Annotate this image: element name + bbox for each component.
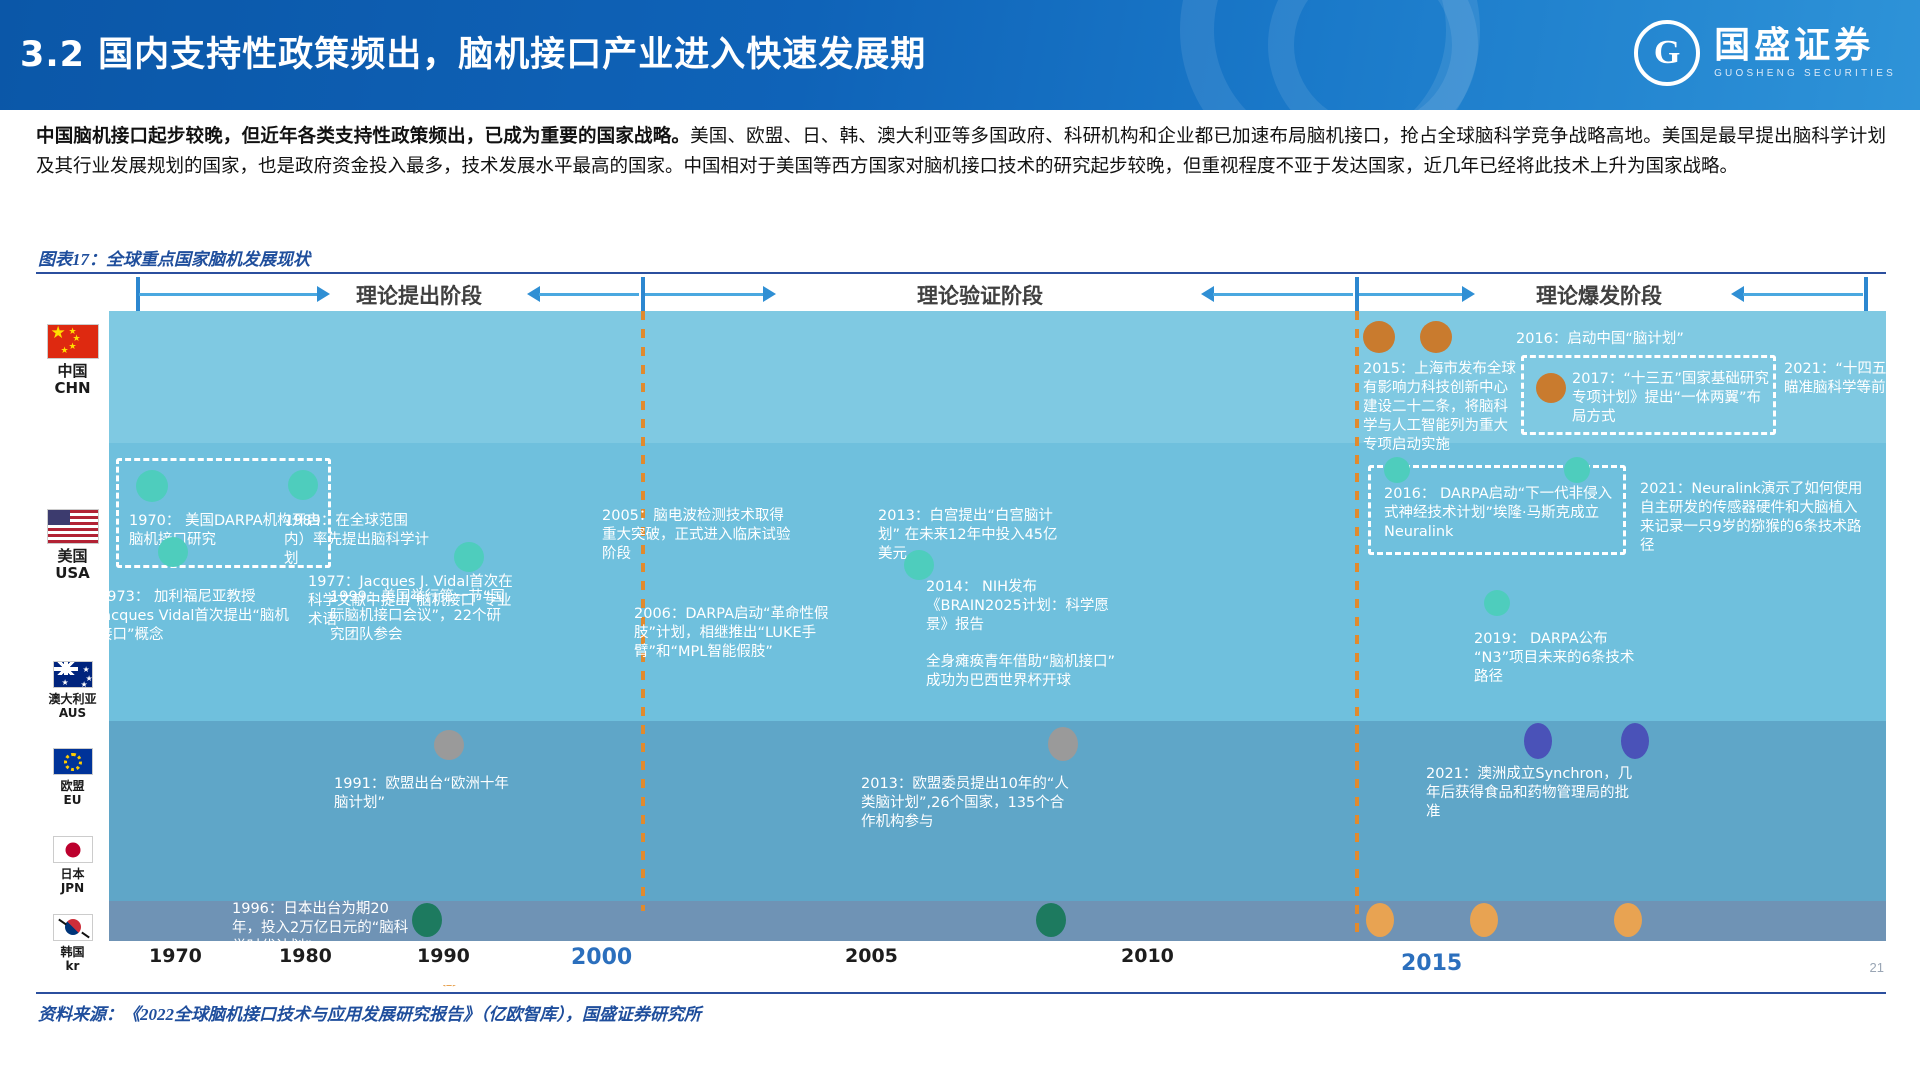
country-label-usa-cn: 美国 xyxy=(57,548,87,565)
event-chn-2017: 2017：“十三五”国家基础研究专项计划》提出“一体两翼”布局方式 xyxy=(1572,370,1770,427)
event-dot xyxy=(1484,590,1510,616)
flag-kr-icon xyxy=(53,914,93,941)
figure-source: 资料来源：《2022全球脑机接口技术与应用发展研究报告》（亿欧智库），国盛证券研… xyxy=(38,1000,701,1025)
brand-name-cn: 国盛证券 xyxy=(1714,27,1896,65)
country-label-usa-code: USA xyxy=(55,565,90,582)
axis-tick-1970: 1970 xyxy=(149,945,202,967)
phase-2-arrow-line-left xyxy=(645,293,765,296)
event-dot xyxy=(1366,903,1394,937)
phase-1-arrow-line-right xyxy=(539,293,639,296)
country-row-kr: 韩国 kr xyxy=(36,907,109,979)
axis-tick-2005: 2005 xyxy=(845,945,898,967)
axis-tick-2000: 2000 xyxy=(571,945,632,970)
event-usa-2021: 2021：Neuralink演示了如何使用自主研发的传感器硬件和大脑植入来记录一… xyxy=(1640,480,1870,556)
event-usa-2005: 2005：脑电波检测技术取得重大突破，正式进入临床试验阶段 xyxy=(602,507,797,564)
page-number: 21 xyxy=(1870,960,1884,975)
phase-2-arrow-line-right xyxy=(1213,293,1353,296)
figure-top-rule xyxy=(36,272,1886,274)
phase-label-3: 理论爆发阶段 xyxy=(1469,280,1729,310)
event-dot xyxy=(1420,321,1452,353)
phase-1-arrow-line-left xyxy=(139,293,319,296)
event-dot xyxy=(1363,321,1395,353)
phase-label-1: 理论提出阶段 xyxy=(319,280,519,310)
country-label-eu-cn: 欧盟 xyxy=(60,779,84,793)
event-usa-1989: 1989：在全球范围内）率先提出脑科学计划 xyxy=(284,512,429,569)
country-label-eu-code: EU xyxy=(64,793,82,807)
flag-us-icon xyxy=(47,509,99,544)
event-dot xyxy=(136,470,168,502)
event-dot xyxy=(1614,903,1642,937)
event-dot xyxy=(1384,457,1410,483)
figure-bottom-rule xyxy=(36,992,1886,994)
event-chn-2016: 2016：启动中国“脑计划” xyxy=(1516,330,1816,349)
country-row-jpn: 日本 JPN xyxy=(36,823,109,908)
axis-tick-1990: 1990 xyxy=(417,945,470,967)
flag-jp-icon xyxy=(53,836,93,863)
event-chn-2015: 2015：上海市发布全球有影响力科技创新中心建设二十二条，将脑科学与人工智能列为… xyxy=(1363,360,1518,455)
event-usa-1973: 1973： 加利福尼亚教授Jacques Vidal首次提出“脑机接口”概念 xyxy=(98,588,293,645)
page-title: 3.2 国内支持性政策频出，脑机接口产业进入快速发展期 xyxy=(20,26,926,77)
event-dot xyxy=(1036,903,1066,937)
timeline-chart: ★★ ★★ ★ 中国 CHN 美国 USA ★ ★ ★ ★ 澳大利亚 AUS xyxy=(36,275,1886,985)
phase-header: 理论提出阶段 理论验证阶段 理论爆发阶段 xyxy=(109,275,1886,311)
country-row-chn: ★★ ★★ ★ 中国 CHN xyxy=(36,285,109,435)
phase-3-arrow-line-left xyxy=(1359,293,1464,296)
country-row-eu: 欧盟 EU xyxy=(36,735,109,820)
event-usa-1999: 1999：美国举行第一节“国际脑机接口会议”，22个研究团队参会 xyxy=(330,588,515,645)
country-label-jpn-cn: 日本 xyxy=(60,867,84,881)
country-row-aus: ★ ★ ★ ★ 澳大利亚 AUS xyxy=(36,645,109,735)
event-dot xyxy=(454,542,484,572)
event-dot xyxy=(288,470,318,500)
event-usa-2013: 2013：白宫提出“白宫脑计划” 在未来12年中投入45亿美元 xyxy=(878,507,1058,564)
country-label-chn-code: CHN xyxy=(54,380,90,397)
flag-eu-icon xyxy=(53,748,93,775)
flag-cn-icon: ★★ ★★ ★ xyxy=(47,324,99,359)
event-aus-2021: 2021：澳洲成立Synchron，几年后获得食品和药物管理局的批准 xyxy=(1426,765,1636,822)
event-dot xyxy=(904,550,934,580)
event-usa-2016: 2016： DARPA启动“下一代非侵入式神经技术计划”埃隆·马斯克成立Neur… xyxy=(1384,485,1614,542)
event-dot xyxy=(1524,723,1552,759)
year-marker-2015 xyxy=(1355,311,1359,941)
intro-paragraph: 中国脑机接口起步较晚，但近年各类支持性政策频出，已成为重要的国家战略。美国、欧盟… xyxy=(36,122,1886,182)
guosheng-logo-icon: G xyxy=(1634,20,1700,86)
event-dot xyxy=(1564,457,1590,483)
time-axis: 1970 1980 1990 2000 2005 2010 2015 xyxy=(109,941,1886,985)
phase-label-2: 理论验证阶段 xyxy=(765,280,1195,310)
phase-3-arrow-line-right xyxy=(1743,293,1863,296)
event-eu-1991: 1991：欧盟出台“欧洲十年脑计划” xyxy=(334,775,519,813)
brand-name-en: GUOSHENG SECURITIES xyxy=(1714,68,1896,79)
watermark-ring-inner xyxy=(1268,0,1478,110)
event-usa-2014b: 全身瘫痪青年借助“脑机接口”成功为巴西世界杯开球 xyxy=(926,653,1126,691)
intro-lead: 中国脑机接口起步较晚，但近年各类支持性政策频出，已成为重要的国家战略。 xyxy=(36,127,690,147)
event-dot xyxy=(434,730,464,760)
event-dot xyxy=(1470,903,1498,937)
event-dot xyxy=(158,537,188,567)
brand-logo: G 国盛证券 GUOSHENG SECURITIES xyxy=(1634,20,1896,86)
country-label-kr-code: kr xyxy=(66,959,80,973)
event-dot xyxy=(1536,373,1566,403)
country-label-chn-cn: 中国 xyxy=(57,363,87,380)
axis-tick-2010: 2010 xyxy=(1121,945,1174,967)
event-usa-2006: 2006：DARPA启动“革命性假肢”计划，相继推出“LUKE手臂”和“MPL智… xyxy=(634,605,829,662)
axis-tick-2015: 2015 xyxy=(1401,951,1462,976)
event-usa-2014: 2014： NIH发布《BRAIN2025计划：科学愿景》报告 xyxy=(926,578,1116,635)
page-header: 3.2 国内支持性政策频出，脑机接口产业进入快速发展期 G 国盛证券 GUOSH… xyxy=(0,0,1920,110)
axis-tick-1980: 1980 xyxy=(279,945,332,967)
country-label-jpn-code: JPN xyxy=(61,881,84,895)
country-label-kr-cn: 韩国 xyxy=(60,945,84,959)
flag-au-icon: ★ ★ ★ ★ xyxy=(53,661,93,688)
event-dot xyxy=(1048,727,1078,761)
phase-sep-end xyxy=(1864,277,1868,311)
country-label-aus-cn: 澳大利亚 xyxy=(48,692,96,706)
figure-caption: 图表17：全球重点国家脑机发展现状 xyxy=(38,245,310,270)
event-eu-2013: 2013：欧盟委员提出10年的“人类脑计划”,26个国家，135个合作机构参与 xyxy=(861,775,1071,832)
country-label-aus-code: AUS xyxy=(59,706,86,720)
event-usa-2019: 2019： DARPA公布“N3”项目未来的6条技术路径 xyxy=(1474,630,1639,687)
event-chn-2021: 2021：“十四五规划”瞄准脑科学等前沿领域 xyxy=(1784,360,1920,398)
event-dot xyxy=(1621,723,1649,759)
